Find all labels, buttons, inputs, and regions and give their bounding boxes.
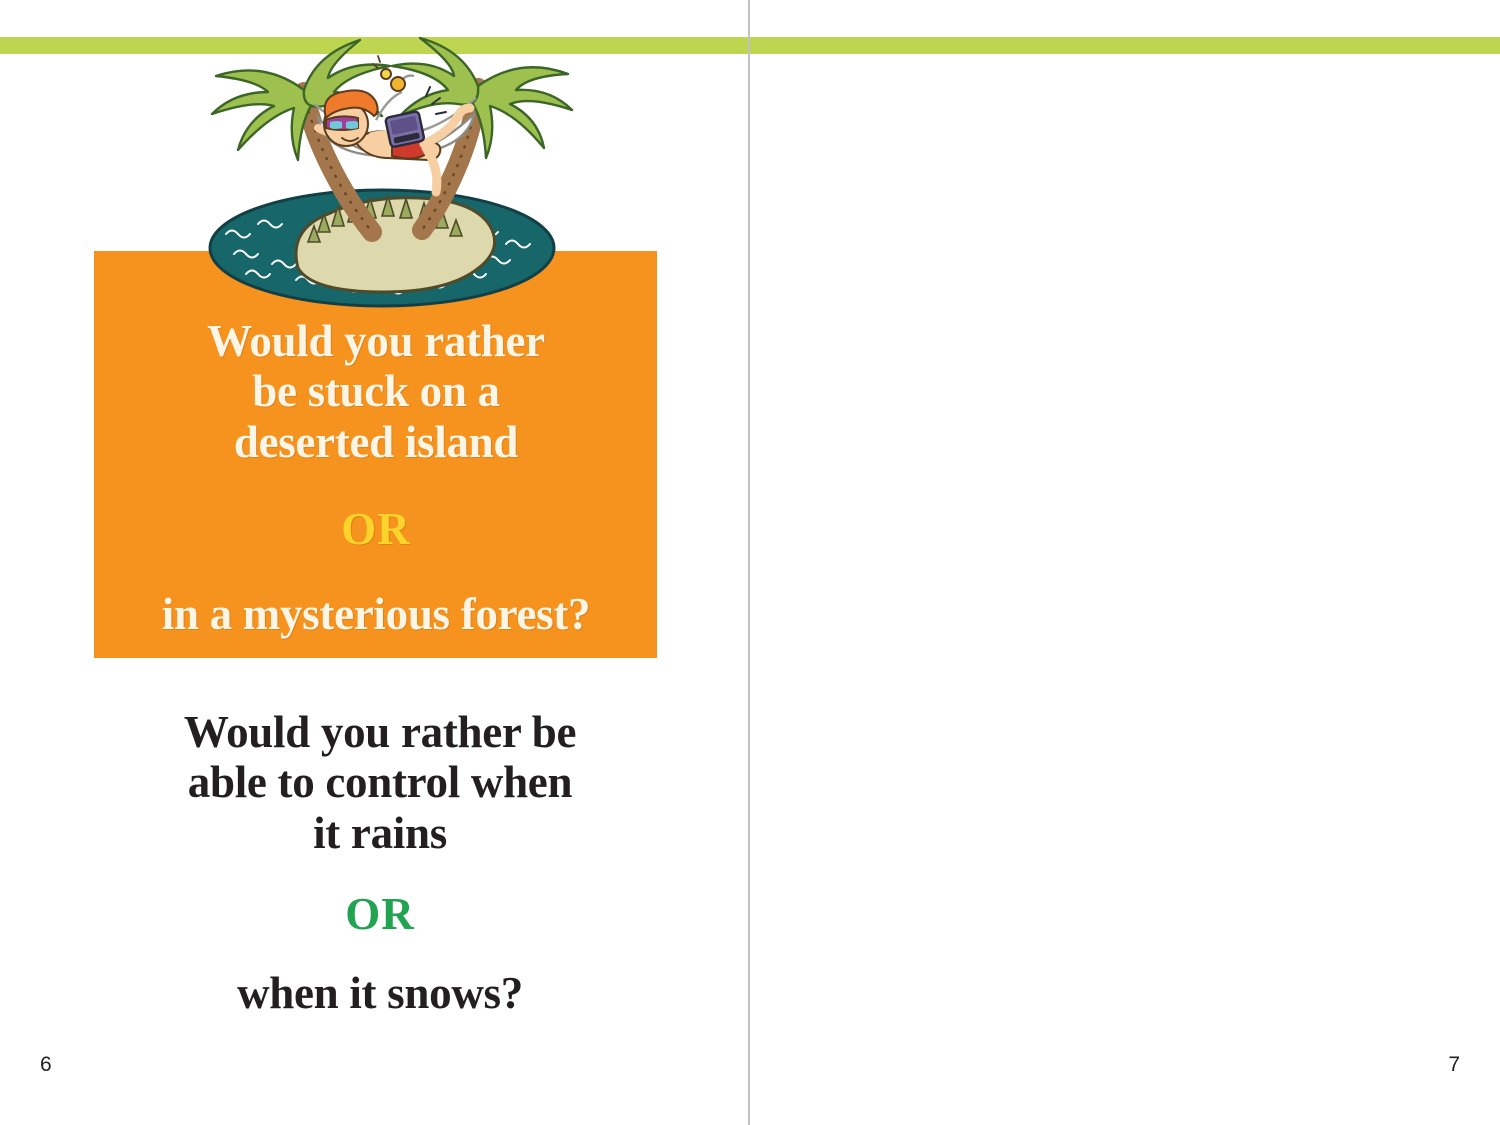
question-line: it rains <box>112 808 648 858</box>
page-number-right: 7 <box>1448 1053 1460 1077</box>
left-page: Would you rather be stuck on a deserted … <box>0 0 749 1125</box>
question-line: Would you rather be <box>112 707 648 757</box>
book-spread: Would you rather be stuck on a deserted … <box>0 0 1500 1125</box>
weather-question-text: Would you rather be able to control when… <box>112 707 648 1018</box>
question-line: deserted island <box>110 417 642 467</box>
right-page: Would you rather have the power of invis… <box>750 0 1500 1125</box>
book-gutter-line <box>748 0 750 1125</box>
island-question-text: Would you rather be stuck on a deserted … <box>110 316 642 639</box>
question-line: be stuck on a <box>110 366 642 416</box>
or-divider-label: OR <box>110 505 642 555</box>
or-divider-label: OR <box>112 890 648 940</box>
question-line: Would you rather <box>110 316 642 366</box>
page-number-left: 6 <box>40 1053 52 1077</box>
question-line: when it snows? <box>112 968 648 1018</box>
question-line: in a mysterious forest? <box>110 589 642 639</box>
desert-island-hammock-illustration <box>186 18 578 308</box>
question-line: able to control when <box>112 757 648 807</box>
